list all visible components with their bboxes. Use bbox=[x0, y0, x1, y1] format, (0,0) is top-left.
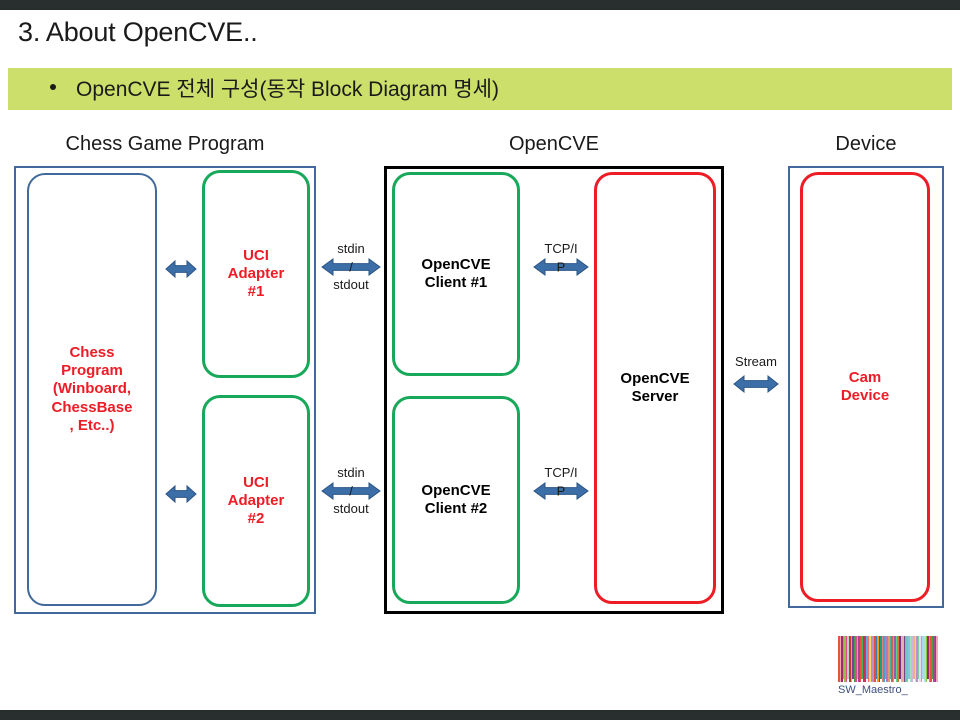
block-uci-adapter-1: UCIAdapter#1 bbox=[202, 170, 310, 378]
block-chess-program: ChessProgram(Winboard,ChessBase, Etc..) bbox=[27, 173, 157, 606]
block-opencve-server: OpenCVEServer bbox=[594, 172, 716, 604]
bullet-icon bbox=[50, 84, 56, 90]
connector-label-top: stdin bbox=[337, 242, 364, 256]
double-arrow-icon: P bbox=[532, 256, 590, 278]
connector-stream: Stream bbox=[724, 355, 788, 395]
top-decorative-bar bbox=[0, 0, 960, 10]
double-arrow-icon bbox=[164, 258, 198, 280]
connector-label-top: TCP/I bbox=[544, 242, 577, 256]
connector-stdio-1: stdin / stdout bbox=[318, 242, 384, 291]
block-cam-device: CamDevice bbox=[800, 172, 930, 602]
connector-chess-to-uci2 bbox=[158, 483, 204, 505]
block-uci-adapter-2: UCIAdapter#2 bbox=[202, 395, 310, 607]
subtitle-band: OpenCVE 전체 구성(동작 Block Diagram 명세) bbox=[8, 68, 952, 110]
barcode-logo-icon bbox=[838, 636, 938, 682]
connector-label-top: Stream bbox=[735, 355, 777, 369]
section-header-device: Device bbox=[788, 133, 944, 156]
double-arrow-icon: / bbox=[320, 256, 382, 278]
bottom-decorative-bar bbox=[0, 710, 960, 720]
double-arrow-icon bbox=[164, 483, 198, 505]
block-opencve-client-2: OpenCVEClient #2 bbox=[392, 396, 520, 604]
page-title: 3. About OpenCVE.. bbox=[18, 17, 258, 48]
double-arrow-icon: P bbox=[532, 480, 590, 502]
connector-label-bottom: stdout bbox=[333, 278, 368, 292]
connector-label-top: stdin bbox=[337, 466, 364, 480]
footer-logo: SW_Maestro_ bbox=[838, 636, 938, 696]
connector-tcpip-2: TCP/I P bbox=[528, 466, 594, 502]
connector-tcpip-1: TCP/I P bbox=[528, 242, 594, 278]
section-header-chess: Chess Game Program bbox=[14, 133, 316, 156]
connector-label-bottom: stdout bbox=[333, 502, 368, 516]
double-arrow-icon bbox=[732, 373, 780, 395]
subtitle-text: OpenCVE 전체 구성(동작 Block Diagram 명세) bbox=[76, 73, 499, 103]
connector-stdio-2: stdin / stdout bbox=[318, 466, 384, 515]
section-header-opencve: OpenCVE bbox=[384, 133, 724, 156]
connector-chess-to-uci1 bbox=[158, 258, 204, 280]
footer-logo-caption: SW_Maestro_ bbox=[838, 684, 938, 696]
connector-label-top: TCP/I bbox=[544, 466, 577, 480]
double-arrow-icon: / bbox=[320, 480, 382, 502]
block-opencve-client-1: OpenCVEClient #1 bbox=[392, 172, 520, 376]
